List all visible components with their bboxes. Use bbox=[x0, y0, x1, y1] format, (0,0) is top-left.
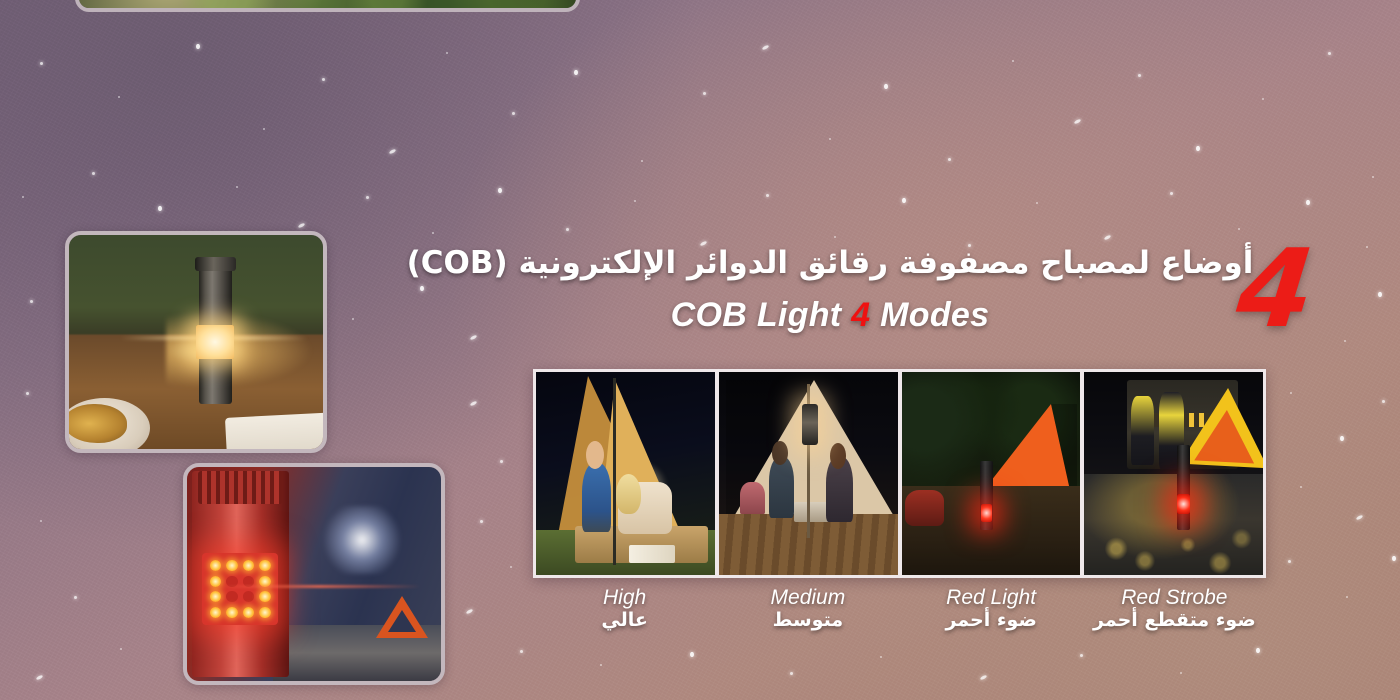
product-photo-red-strobe bbox=[183, 463, 445, 685]
red-strobe-scene bbox=[187, 467, 441, 681]
camp-chair bbox=[740, 482, 765, 514]
road-reflections bbox=[1084, 474, 1263, 576]
open-book bbox=[225, 412, 327, 453]
caption-red-strobe: Red Strobe ضوء متقطع أحمر bbox=[1083, 586, 1266, 646]
caption-red-strobe-en: Red Strobe bbox=[1083, 586, 1266, 609]
road-warning-sign bbox=[1180, 386, 1263, 468]
red-led-panel bbox=[202, 553, 278, 626]
product-photo-warm-cob bbox=[65, 231, 327, 453]
tent-pole bbox=[613, 378, 616, 565]
caption-medium-en: Medium bbox=[716, 586, 899, 609]
headlight-flare bbox=[319, 506, 405, 574]
big-number-four: 4 bbox=[1232, 236, 1319, 344]
red-led-lit bbox=[981, 504, 992, 522]
clipped-top-photo-content bbox=[79, 0, 576, 8]
caption-red-light: Red Light ضوء أحمر bbox=[900, 586, 1083, 646]
woman-head bbox=[830, 443, 846, 469]
caption-medium: Medium متوسط bbox=[716, 586, 899, 646]
product-infographic-banner: أوضاع لمصباح مصفوفة رقائق الدوائر الإلكت… bbox=[0, 0, 1400, 700]
caption-red-light-en: Red Light bbox=[900, 586, 1083, 609]
child-figure bbox=[582, 463, 611, 532]
heading-block: أوضاع لمصباح مصفوفة رقائق الدوائر الإلكت… bbox=[330, 246, 1330, 335]
mode-photo-red-light bbox=[902, 372, 1081, 575]
mode-photo-strip bbox=[533, 369, 1266, 578]
flashlight-standing bbox=[1177, 445, 1190, 530]
open-book bbox=[629, 545, 675, 563]
red-light-ray bbox=[217, 585, 420, 588]
mode-photo-medium bbox=[719, 372, 898, 575]
clipped-top-photo bbox=[75, 0, 580, 12]
caption-medium-ar: متوسط bbox=[716, 609, 899, 633]
worker-one bbox=[1131, 396, 1154, 465]
mode-photo-red-strobe bbox=[1084, 372, 1263, 575]
woman-hair bbox=[616, 474, 641, 515]
caption-red-light-ar: ضوء أحمر bbox=[900, 609, 1083, 633]
subtitle-number: 4 bbox=[851, 296, 870, 334]
subtitle-text-after: Modes bbox=[870, 296, 989, 334]
subtitle-english: COB Light 4 Modes bbox=[330, 296, 1330, 335]
hanging-lantern bbox=[802, 404, 818, 445]
man-figure bbox=[769, 457, 794, 518]
led-grid bbox=[210, 560, 271, 618]
cob-panel-lit bbox=[196, 325, 234, 359]
caption-high-en: High bbox=[533, 586, 716, 609]
backpack bbox=[905, 490, 944, 527]
caption-high-ar: عالي bbox=[533, 609, 716, 633]
mode-photo-high bbox=[536, 372, 715, 575]
heading-arabic: أوضاع لمصباح مصفوفة رقائق الدوائر الإلكت… bbox=[330, 246, 1330, 282]
food bbox=[65, 404, 127, 443]
mode-captions: High عالي Medium متوسط Red Light ضوء أحم… bbox=[533, 586, 1266, 646]
caption-high: High عالي bbox=[533, 586, 716, 646]
subtitle-text-before: COB Light bbox=[671, 296, 852, 334]
warm-glow bbox=[166, 312, 313, 389]
warning-triangle-icon bbox=[376, 596, 428, 638]
caption-red-strobe-ar: ضوء متقطع أحمر bbox=[1083, 609, 1266, 633]
warm-cob-scene bbox=[69, 235, 323, 449]
red-strobe-lit bbox=[1177, 494, 1190, 514]
